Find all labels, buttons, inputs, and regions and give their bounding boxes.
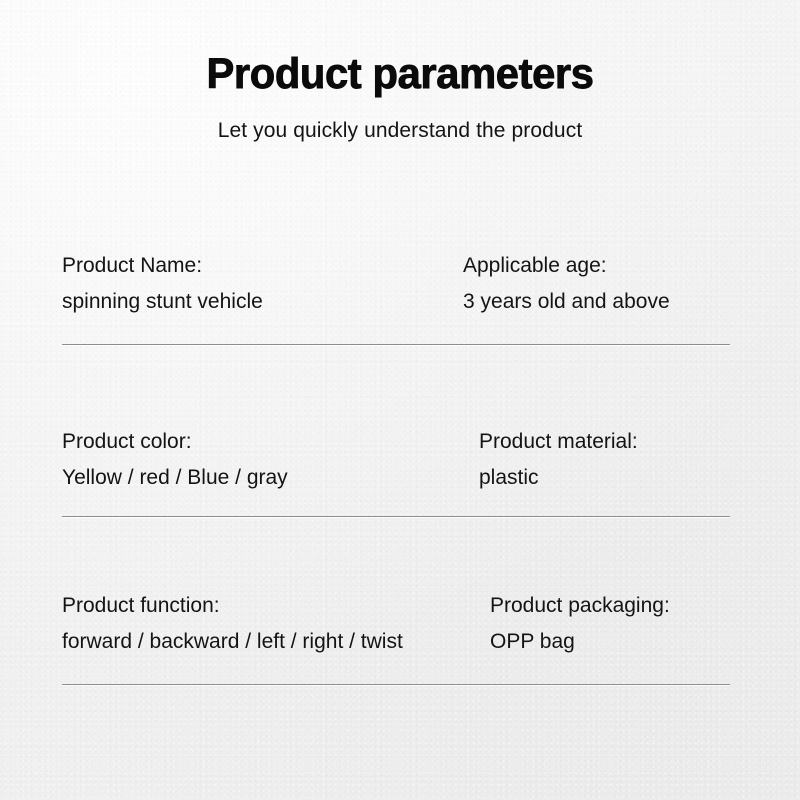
row-divider — [62, 516, 730, 517]
parameter-row: Product Name: spinning stunt vehicle App… — [62, 252, 730, 332]
parameter-cell-left: Product Name: spinning stunt vehicle — [62, 252, 263, 315]
parameter-cell-right: Applicable age: 3 years old and above — [463, 252, 670, 315]
parameter-row: Product function: forward / backward / l… — [62, 592, 730, 672]
parameter-cell-left: Product function: forward / backward / l… — [62, 592, 403, 655]
parameter-value: OPP bag — [490, 628, 670, 655]
parameter-label: Product material: — [479, 428, 638, 455]
parameter-label: Product function: — [62, 592, 403, 619]
row-divider — [62, 684, 730, 685]
parameter-value: Yellow / red / Blue / gray — [62, 464, 288, 491]
product-parameters-page: Product parameters Let you quickly under… — [0, 0, 800, 800]
parameter-value: 3 years old and above — [463, 288, 670, 315]
parameter-row-columns: Product function: forward / backward / l… — [62, 592, 730, 672]
parameter-value: plastic — [479, 464, 638, 491]
parameter-label: Product color: — [62, 428, 288, 455]
parameter-value: forward / backward / left / right / twis… — [62, 628, 403, 655]
page-subtitle: Let you quickly understand the product — [0, 118, 800, 144]
page-content: Product parameters Let you quickly under… — [0, 0, 800, 800]
parameter-cell-left: Product color: Yellow / red / Blue / gra… — [62, 428, 288, 491]
page-header: Product parameters Let you quickly under… — [0, 48, 800, 144]
parameter-label: Applicable age: — [463, 252, 670, 279]
page-title: Product parameters — [12, 48, 788, 100]
parameter-value: spinning stunt vehicle — [62, 288, 263, 315]
parameter-label: Product packaging: — [490, 592, 670, 619]
parameter-row: Product color: Yellow / red / Blue / gra… — [62, 428, 730, 508]
parameter-cell-right: Product packaging: OPP bag — [490, 592, 670, 655]
parameter-label: Product Name: — [62, 252, 263, 279]
row-divider — [62, 344, 730, 345]
parameter-row-columns: Product Name: spinning stunt vehicle App… — [62, 252, 730, 332]
parameter-cell-right: Product material: plastic — [479, 428, 638, 491]
parameter-row-columns: Product color: Yellow / red / Blue / gra… — [62, 428, 730, 508]
